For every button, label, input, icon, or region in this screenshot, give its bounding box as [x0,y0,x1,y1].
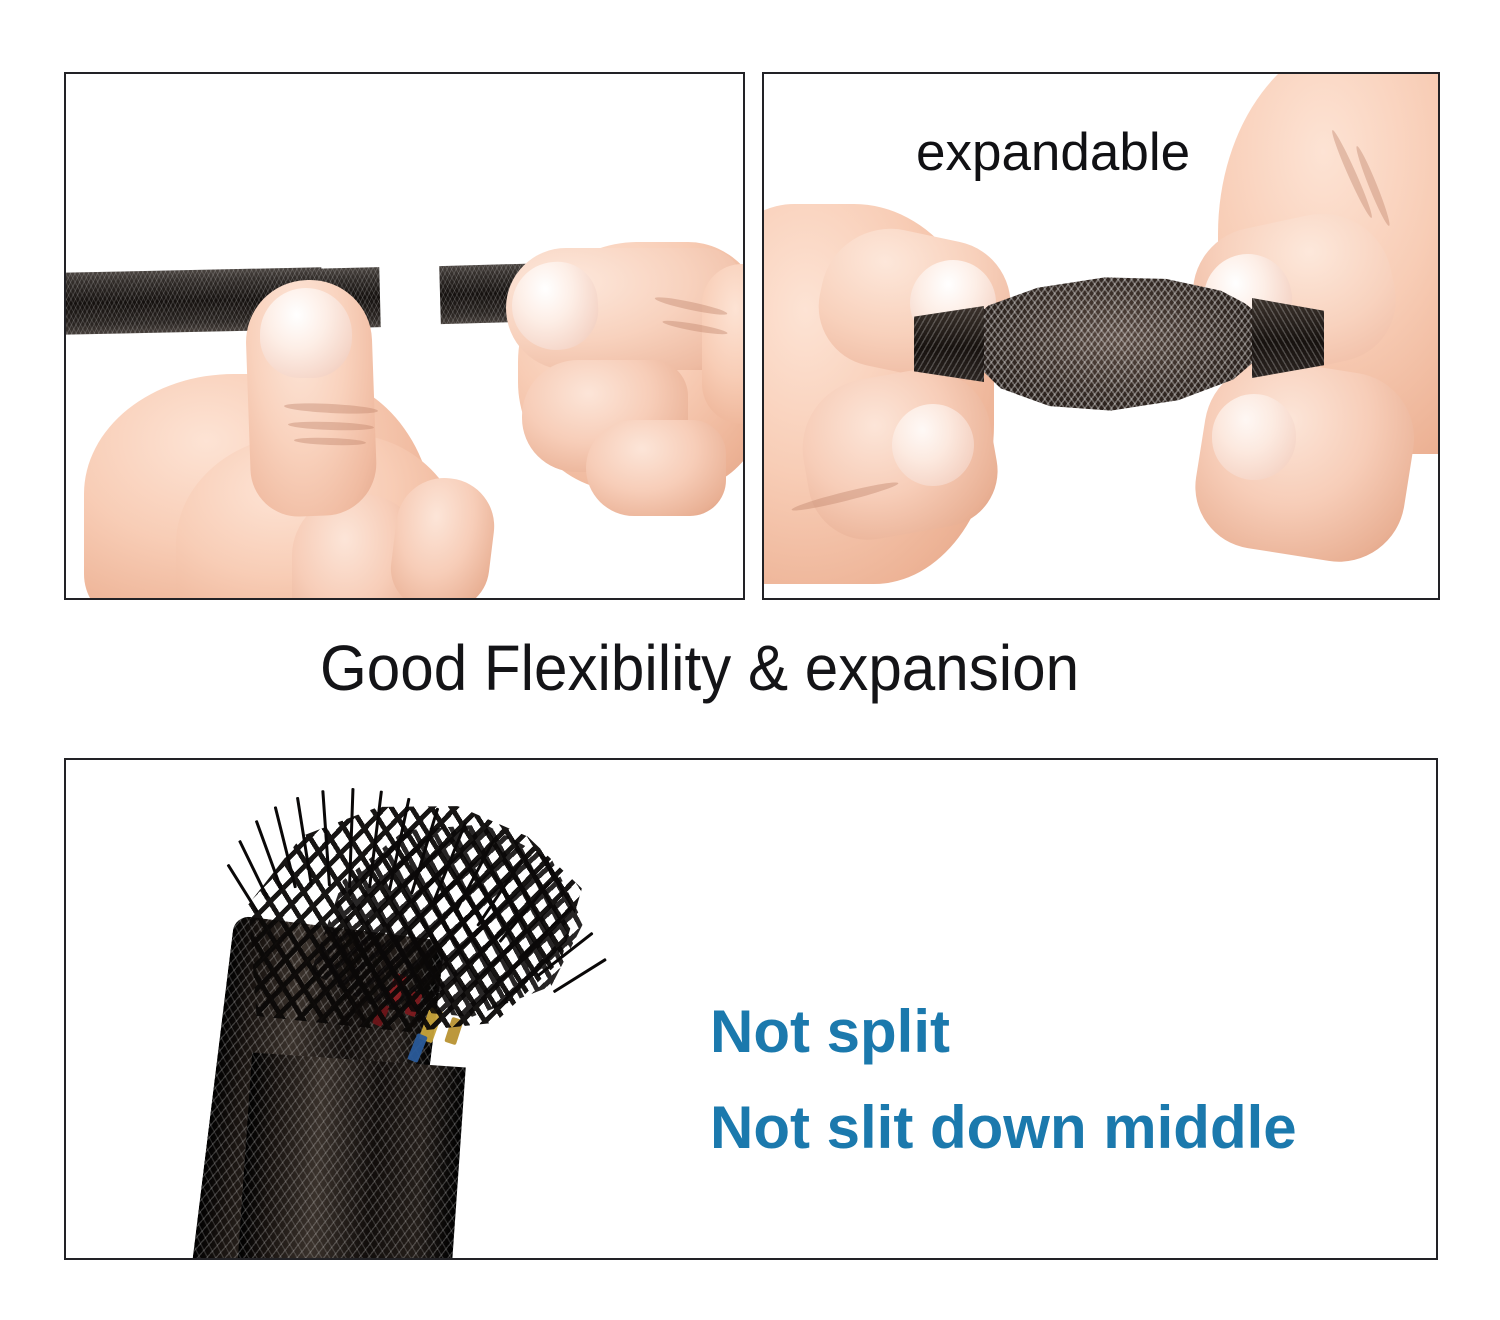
not-slit-caption: Not slit down middle [710,1098,1297,1158]
expanded-sleeve-right-tail [1252,298,1324,378]
expanded-sleeve-left-tail [914,306,984,382]
right-hand-ring-finger [586,420,726,516]
not-split-caption: Not split [710,1002,950,1062]
expandable-label: expandable [916,126,1190,179]
right-hand-thumb [702,264,745,424]
infographic-canvas: expandable Good Flexibility & expansion … [0,0,1500,1320]
flat-sleeve-photo [64,72,745,600]
expand-right-thumb-nail [1212,394,1296,480]
flexibility-caption: Good Flexibility & expansion [320,636,1079,700]
sleeve-tube-body-lower [236,1053,466,1260]
left-thumb-nail [260,288,352,378]
